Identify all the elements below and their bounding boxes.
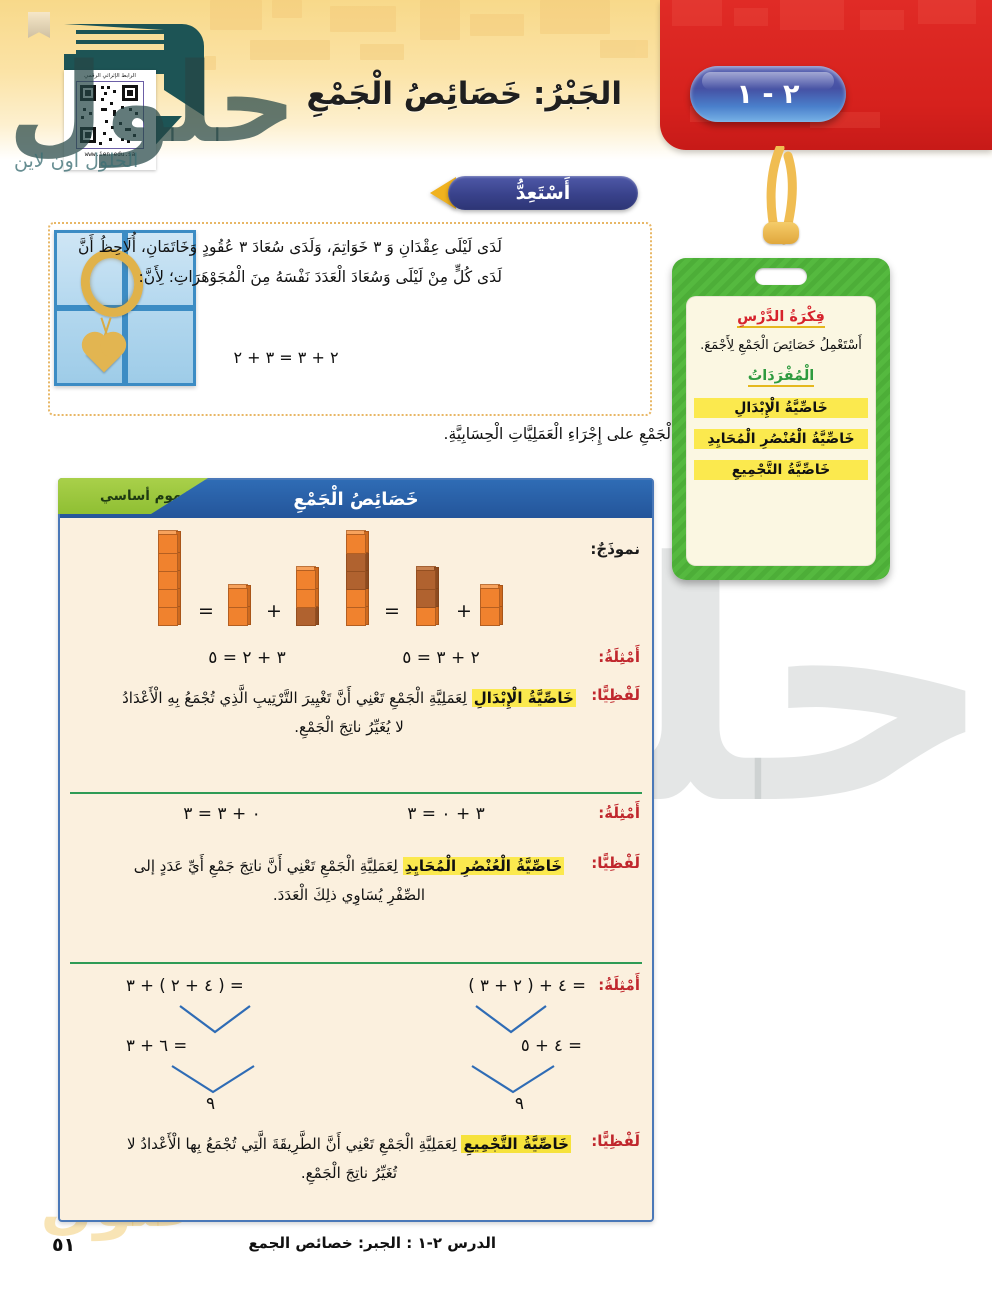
cube: [416, 566, 438, 588]
associative-verbal-rest-1: لِعَمَلِيَّةِ الْجَمْعِ تَعْنِي أَنَّ ال…: [272, 1135, 457, 1153]
associative-left-line2: = ٦ + ٣: [126, 1036, 187, 1055]
associative-right-line1: = ٤ + ( ٢ + ٣ ): [468, 976, 586, 995]
cube: [480, 584, 502, 606]
examples-label-3: أَمْثِلَةُ:: [598, 976, 640, 994]
section-divider-2: [70, 962, 642, 964]
commutative-equation-left: ٣ + ٢ = ٥: [152, 648, 342, 668]
lesson-idea-inner: فِكْرَةُ الدَّرْسِ أَسْتَعْمِلُ خَصَائِص…: [686, 296, 876, 566]
footer-lesson-text: الدرس ٢-١ : الجبر: خصائص الجمع: [248, 1234, 496, 1252]
identity-verbal-rest-1: لِعَمَلِيَّةِ الْجَمْعِ تَعْنِي أَنَّ: [267, 857, 398, 875]
textbook-page: الرابط الإثرائي الرقمي: [0, 0, 992, 1290]
lesson-idea-text: أَسْتَعْمِلُ خَصَائِصَ الْجَمْعِ لِأَجْم…: [694, 335, 868, 358]
verbal-label-2: لَفْظِيًّا:: [591, 854, 640, 872]
commutative-term: خَاصِّيَّةُ الْإِبْدَالِ: [472, 689, 576, 707]
verbal-label-3: لَفْظِيًّا:: [591, 1132, 640, 1150]
model-label: نموذَجٌ:: [590, 540, 640, 558]
commutative-equation-right: ٢ + ٣ = ٥: [346, 648, 536, 668]
verbal-label-1: لَفْظِيًّا:: [591, 686, 640, 704]
plus-sign: +: [266, 600, 282, 622]
identity-term: خَاصِّيَّةُ الْعُنْصُرِ الْمُحَايِدِ: [403, 857, 565, 875]
associative-left-line1: = ( ٤ + ٢ ) + ٣: [126, 976, 244, 995]
qr-caption: الرابط الإثرائي الرقمي: [64, 70, 156, 79]
equals-sign: =: [198, 600, 214, 622]
concept-title: خَصَائِصُ الْجَمْعِ: [293, 489, 418, 510]
grouping-vee-right-2: [470, 1064, 556, 1096]
vocabulary-heading: الْمُفْرَدَاتُ: [748, 368, 815, 387]
commutative-verbal-rest-1: لِعَمَلِيَّةِ الْجَمْعِ تَعْنِي أَنَّ تَ…: [253, 689, 467, 707]
cube: [228, 584, 250, 606]
ready-equation: ٢ + ٣ = ٣ + ٢: [70, 348, 502, 367]
cube: [158, 530, 180, 552]
cube: [346, 530, 368, 552]
commutative-verbal: خَاصِّيَّةُ الْإِبْدَالِ لِعَمَلِيَّةِ ا…: [116, 684, 582, 743]
associative-term: خَاصِّيَّةُ التَّجْمِيعِ: [461, 1135, 571, 1153]
ready-header: أَسْتَعِدُّ: [430, 176, 660, 214]
grouping-vee-left-2: [170, 1064, 256, 1096]
examples-label-1: أَمْثِلَةُ:: [598, 648, 640, 666]
grouping-vee-left-1: [178, 1004, 252, 1036]
identity-equation-left: ٠ + ٣ = ٣: [122, 804, 322, 824]
identity-equation-right: ٣ + ٠ = ٣: [346, 804, 546, 824]
associative-left-result: ٩: [206, 1094, 215, 1114]
page-number: ٥١: [52, 1234, 75, 1256]
qr-code-image: [76, 81, 144, 149]
associative-verbal: خَاصِّيَّةُ التَّجْمِيعِ لِعَمَلِيَّةِ ا…: [116, 1130, 582, 1189]
associative-right-line2: = ٤ + ٥: [521, 1036, 582, 1055]
vocab-item-commutative: خَاصِّيَّةُ الْإِبْدَالِ: [694, 398, 868, 418]
rope-icon: [758, 146, 804, 266]
vocab-item-associative: خَاصِّيَّةُ التَّجْمِيعِ: [694, 460, 868, 480]
plus-sign: +: [456, 600, 472, 622]
qr-card: الرابط الإثرائي الرقمي: [64, 70, 156, 170]
tag-hole: [755, 268, 807, 285]
lesson-number-badge: ٢ - ١: [690, 66, 846, 122]
lesson-idea-heading: فِكْرَةُ الدَّرْسِ: [737, 309, 825, 328]
equals-sign: =: [384, 600, 400, 622]
rope-knot-icon: [763, 222, 799, 244]
qr-url-text: www.ien.edu.sa: [64, 151, 156, 158]
examples-label-2: أَمْثِلَةُ:: [598, 804, 640, 822]
concept-box: خَصَائِصُ الْجَمْعِ مفهوم أساسي نموذَجٌ:…: [58, 478, 654, 1222]
digital-resource-logo: الرابط الإثرائي الرقمي: [14, 8, 204, 188]
vocab-item-identity: خَاصِّيَّةُ الْعُنْصُرِ الْمُحَايِدِ: [694, 429, 868, 449]
ready-label: أَسْتَعِدُّ: [448, 176, 638, 210]
ready-paragraph: لَدَى لَيْلَى عِقْدَانِ وَ ٣ خَوَاتِمَ، …: [70, 232, 502, 292]
intro-dotted-box: لَدَى لَيْلَى عِقْدَانِ وَ ٣ خَوَاتِمَ، …: [48, 222, 652, 416]
associative-right-result: ٩: [515, 1094, 524, 1114]
identity-verbal: خَاصِّيَّةُ الْعُنْصُرِ الْمُحَايِدِ لِع…: [116, 852, 582, 911]
section-divider-1: [70, 792, 642, 794]
cube: [296, 566, 318, 588]
lesson-idea-card: فِكْرَةُ الدَّرْسِ أَسْتَعْمِلُ خَصَائِص…: [672, 258, 890, 580]
grouping-vee-right-1: [474, 1004, 548, 1036]
page-title: الجَبْرُ: خَصَائِصُ الْجَمْعِ: [306, 76, 622, 112]
page-footer: الدرس ٢-١ : الجبر: خصائص الجمع ٥١: [0, 1234, 992, 1264]
